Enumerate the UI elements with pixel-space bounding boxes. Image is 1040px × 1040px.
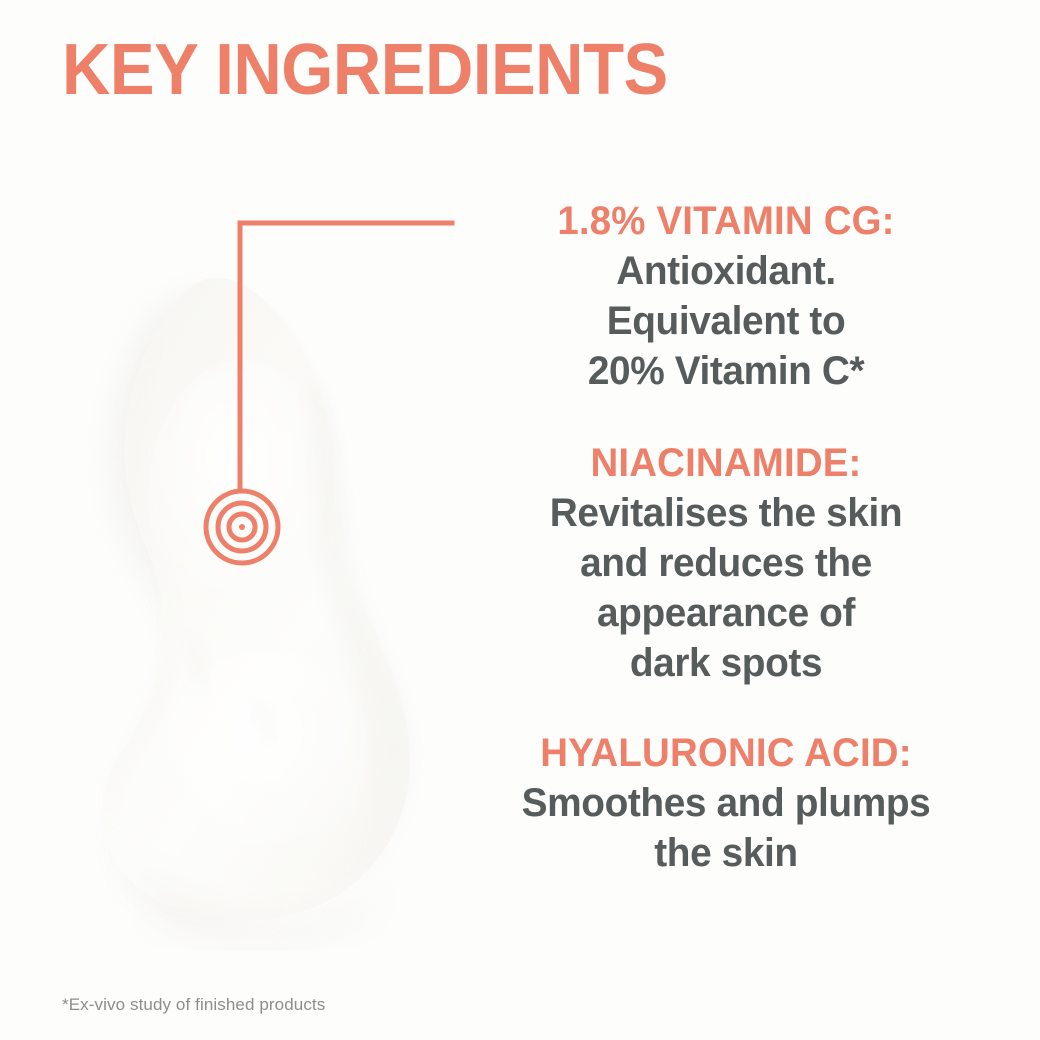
- ingredient-name: 1.8% VITAMIN CG:: [457, 196, 995, 246]
- ingredient-description-line: and reduces the: [454, 538, 997, 588]
- ingredient-description-line: appearance of: [454, 588, 997, 638]
- ingredient-item-niacinamide: NIACINAMIDE: Revitalises the skin and re…: [446, 438, 1006, 688]
- ingredient-description-line: Equivalent to: [454, 296, 997, 346]
- ingredient-description-line: the skin: [454, 828, 997, 878]
- ingredients-list: 1.8% VITAMIN CG: Antioxidant. Equivalent…: [446, 196, 1006, 878]
- ingredient-name: HYALURONIC ACID:: [457, 728, 995, 778]
- ingredient-name: NIACINAMIDE:: [457, 438, 995, 488]
- footnote: *Ex-vivo study of finished products: [62, 995, 325, 1015]
- ingredient-description-line: Antioxidant.: [454, 246, 997, 296]
- ingredient-description-line: 20% Vitamin C*: [454, 346, 997, 396]
- ingredient-item-hyaluronic-acid: HYALURONIC ACID: Smoothes and plumps the…: [446, 728, 1006, 878]
- ingredient-item-vitamin-cg: 1.8% VITAMIN CG: Antioxidant. Equivalent…: [446, 196, 1006, 396]
- page-title: KEY INGREDIENTS: [62, 34, 668, 106]
- ingredient-description-line: dark spots: [454, 638, 997, 688]
- key-ingredients-infographic: KEY INGREDIENTS: [0, 0, 1040, 1040]
- ingredient-description-line: Revitalises the skin: [454, 488, 997, 538]
- cream-texture-swatch: [58, 250, 458, 950]
- ingredient-description-line: Smoothes and plumps: [454, 778, 997, 828]
